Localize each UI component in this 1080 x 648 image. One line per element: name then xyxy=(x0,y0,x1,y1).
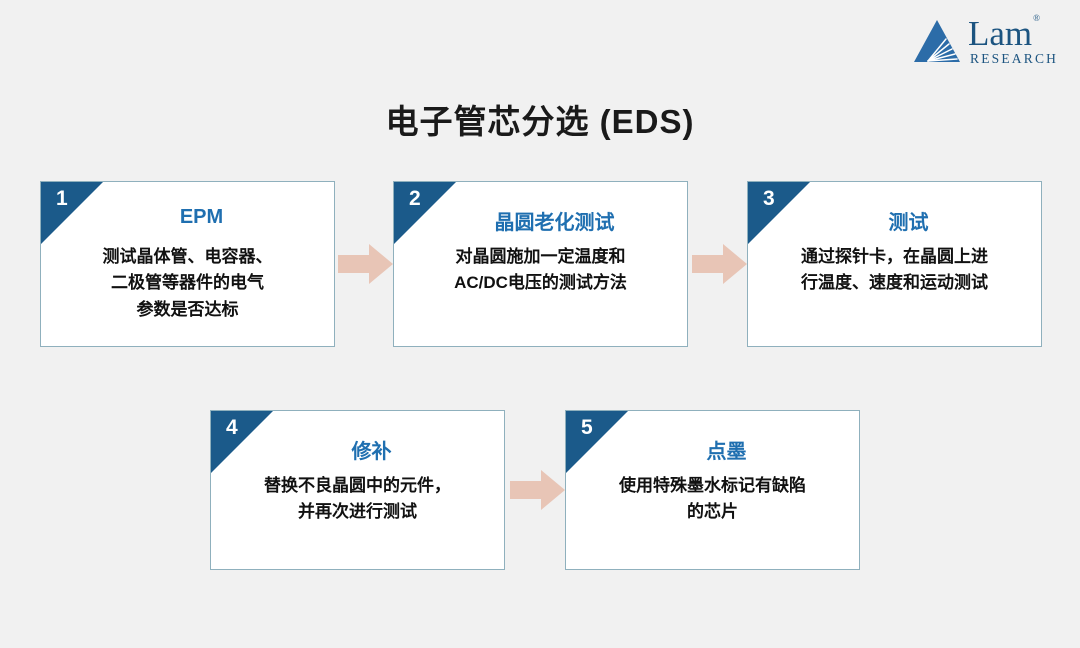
card-step-number: 5 xyxy=(581,417,593,438)
card-body-text: 对晶圆施加一定温度和AC/DC电压的测试方法 xyxy=(404,244,677,297)
process-card-3[interactable]: 3 测试 通过探针卡，在晶圆上进行温度、速度和运动测试 xyxy=(747,181,1042,347)
card-heading: 修补 xyxy=(211,435,504,464)
logo-wordmark: Lam® RESEARCH xyxy=(968,16,1058,66)
slide-canvas: Lam® RESEARCH 电子管芯分选 (EDS) 1 EPM 测试晶体管、电… xyxy=(0,0,1080,648)
card-body-text: 测试晶体管、电容器、二极管等器件的电气参数是否达标 xyxy=(51,244,324,323)
card-heading: EPM xyxy=(41,206,334,229)
process-card-2[interactable]: 2 晶圆老化测试 对晶圆施加一定温度和AC/DC电压的测试方法 xyxy=(393,181,688,347)
lam-triangle-icon xyxy=(912,18,962,64)
card-heading: 点墨 xyxy=(566,435,859,464)
card-heading: 测试 xyxy=(748,206,1041,235)
logo-lam-text: Lam® xyxy=(968,16,1039,51)
card-body-text: 替换不良晶圆中的元件，并再次进行测试 xyxy=(221,473,494,526)
flow-arrow-icon-2 xyxy=(692,242,748,286)
process-card-5[interactable]: 5 点墨 使用特殊墨水标记有缺陷的芯片 xyxy=(565,410,860,570)
card-heading: 晶圆老化测试 xyxy=(394,206,687,235)
process-card-1[interactable]: 1 EPM 测试晶体管、电容器、二极管等器件的电气参数是否达标 xyxy=(40,181,335,347)
card-body-text: 通过探针卡，在晶圆上进行温度、速度和运动测试 xyxy=(758,244,1031,297)
flow-arrow-icon-1 xyxy=(338,242,394,286)
card-step-number: 3 xyxy=(763,188,775,209)
registered-trademark-icon: ® xyxy=(1033,13,1040,23)
card-body-text: 使用特殊墨水标记有缺陷的芯片 xyxy=(576,473,849,526)
lam-research-logo: Lam® RESEARCH xyxy=(912,12,1062,70)
flow-arrow-icon-3 xyxy=(510,468,566,512)
logo-research-text: RESEARCH xyxy=(970,52,1058,66)
process-card-4[interactable]: 4 修补 替换不良晶圆中的元件，并再次进行测试 xyxy=(210,410,505,570)
card-step-number: 4 xyxy=(226,417,238,438)
card-step-number: 2 xyxy=(409,188,421,209)
page-title: 电子管芯分选 (EDS) xyxy=(0,95,1080,143)
card-step-number: 1 xyxy=(56,188,68,209)
